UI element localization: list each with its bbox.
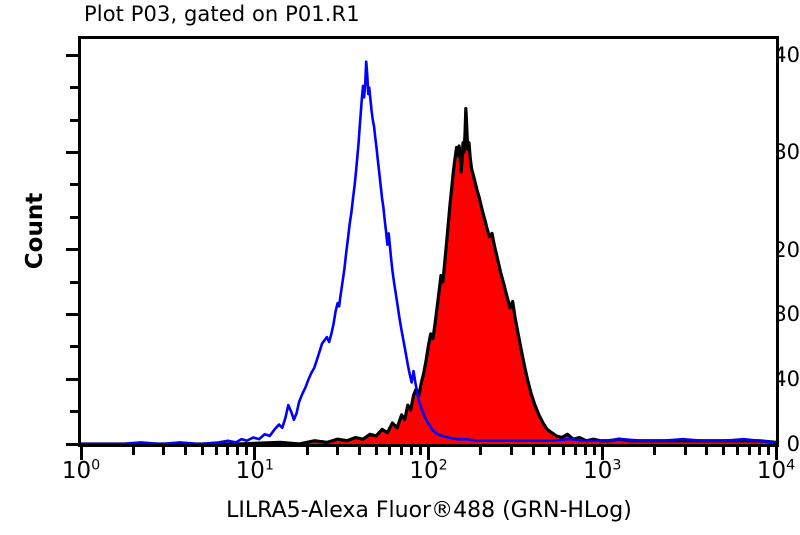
y-tick-mark: [66, 443, 78, 446]
y-tick-mark: [70, 410, 78, 413]
x-tick-mark-minor: [562, 446, 565, 455]
x-tick-mark-minor: [245, 446, 248, 455]
y-tick-mark: [66, 313, 78, 316]
y-tick-mark: [70, 216, 78, 219]
x-tick-mark-minor: [226, 446, 229, 455]
x-tick-mark-minor: [388, 446, 391, 455]
x-tick-mark-minor: [306, 446, 309, 455]
x-tick-mark-minor: [748, 446, 751, 455]
y-tick-mark: [70, 281, 78, 284]
x-tick-mark-minor: [532, 446, 535, 455]
x-tick-mark-minor: [375, 446, 378, 455]
page-title: Plot P03, gated on P01.R1: [84, 2, 360, 26]
y-tick-mark: [66, 151, 78, 154]
x-tick-mark-minor: [684, 446, 687, 455]
x-tick-mark-minor: [705, 446, 708, 455]
y-tick-mark: [66, 378, 78, 381]
y-tick-mark: [70, 86, 78, 89]
x-tick-mark-minor: [736, 446, 739, 455]
x-tick-label: 104: [757, 458, 795, 484]
y-tick-mark: [66, 248, 78, 251]
y-tick-mark: [70, 345, 78, 348]
x-tick-mark-minor: [400, 446, 403, 455]
x-tick-label: 100: [62, 458, 100, 484]
x-tick-mark-minor: [162, 446, 165, 455]
sample-histogram-fill: [81, 109, 776, 444]
plot-area: [78, 36, 779, 447]
flow-cytometry-plot: Plot P03, gated on P01.R1 Count 04080120…: [0, 0, 800, 535]
x-tick-mark-minor: [767, 446, 770, 455]
x-tick-mark-minor: [236, 446, 239, 455]
x-tick-mark-minor: [758, 446, 761, 455]
x-tick-mark-minor: [184, 446, 187, 455]
x-tick-mark-minor: [722, 446, 725, 455]
y-tick-mark: [70, 119, 78, 122]
histogram-canvas: [81, 39, 776, 444]
x-tick-mark-minor: [653, 446, 656, 455]
x-axis-label: LILRA5-Alexa Fluor®488 (GRN-HLog): [78, 498, 780, 523]
y-axis-label: Count: [22, 171, 48, 291]
x-tick-mark-minor: [419, 446, 422, 455]
x-tick-mark-minor: [548, 446, 551, 455]
x-tick-mark-minor: [510, 446, 513, 455]
x-tick-label: 101: [236, 458, 274, 484]
x-tick-mark-minor: [574, 446, 577, 455]
x-tick-mark-minor: [479, 446, 482, 455]
x-tick-label: 102: [409, 458, 447, 484]
x-tick-mark-minor: [410, 446, 413, 455]
x-tick-mark-minor: [358, 446, 361, 455]
x-tick-mark-minor: [336, 446, 339, 455]
y-tick-mark: [70, 183, 78, 186]
x-tick-mark-minor: [584, 446, 587, 455]
x-tick-mark-minor: [215, 446, 218, 455]
x-tick-label: 103: [583, 458, 621, 484]
x-tick-mark-minor: [593, 446, 596, 455]
y-tick-mark: [66, 54, 78, 57]
x-tick-mark-minor: [132, 446, 135, 455]
x-tick-mark-minor: [201, 446, 204, 455]
